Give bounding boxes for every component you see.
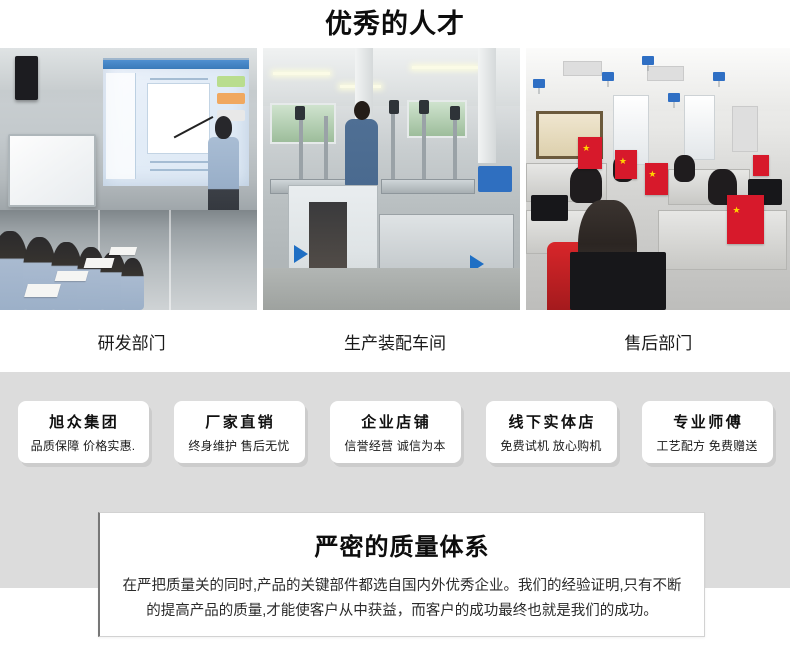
badge-subtitle: 工艺配方 免费赠送: [656, 437, 757, 454]
flag-star-icon: ★: [619, 157, 627, 166]
hanging-sign-icon: [668, 93, 680, 102]
machine-post: [422, 106, 426, 185]
photo-caption: 研发部门: [0, 329, 263, 354]
badge-title: 线下实体店: [506, 411, 596, 432]
badge-card: 旭众集团 品质保障 价格实惠.: [18, 401, 149, 463]
screen-sidebar: [106, 73, 136, 179]
hanging-sign-icon: [642, 56, 654, 65]
photo-caption: 售后部门: [527, 329, 790, 354]
badge-subtitle: 免费试机 放心购机: [500, 437, 601, 454]
office-person: [674, 155, 695, 181]
machine-motor: [450, 106, 460, 120]
badge-card: 企业店铺 信誉经营 诚信为本: [330, 401, 461, 463]
quality-title: 严密的质量体系: [122, 527, 682, 562]
badge-title: 企业店铺: [359, 411, 432, 432]
quality-body-text: 在严把质量关的同时,产品的关键部件都选自国内外优秀企业。我们的经验证明,只有不断…: [122, 574, 682, 624]
brand-swoosh-icon: [294, 245, 308, 263]
screen-document: [147, 83, 210, 154]
photo-caption: 生产装配车间: [263, 329, 526, 354]
machine-motor: [389, 100, 399, 114]
page-title: 优秀的人才: [0, 0, 790, 48]
table-seam: [169, 210, 171, 310]
national-flag-icon: ★: [727, 195, 764, 245]
photo-caption-row: 研发部门 生产装配车间 售后部门: [0, 310, 790, 372]
seated-person: [121, 258, 144, 310]
national-flag-icon: ★: [615, 150, 636, 179]
computer-monitor: [570, 252, 665, 310]
wall-speaker-icon: [15, 56, 38, 101]
notebook: [55, 271, 89, 281]
photo-after-sales-office: ★ ★ ★ ★: [526, 48, 790, 310]
workshop-floor: [263, 268, 520, 310]
national-flag-icon: ★: [578, 137, 602, 168]
photo-production-assembly-workshop: [263, 48, 520, 310]
badge-title: 厂家直销: [203, 411, 276, 432]
flag-star-icon: ★: [582, 144, 590, 153]
badge-card: 厂家直销 终身维护 售后无忧: [174, 401, 305, 463]
machine-frame: [381, 179, 475, 194]
badge-subtitle: 信誉经营 诚信为本: [344, 437, 445, 454]
ceiling-panel: [563, 61, 602, 76]
ceiling-lamp-icon: [273, 72, 329, 75]
photo-rnd-training-room: [0, 48, 257, 310]
national-flag-icon: ★: [645, 163, 669, 194]
cubicle-partition: [658, 210, 787, 270]
badge-row: 旭众集团 品质保障 价格实惠. 厂家直销 终身维护 售后无忧 企业店铺 信誉经营…: [0, 372, 790, 463]
ceiling-panel: [647, 66, 683, 81]
screen-titlebar: [103, 60, 249, 69]
flag-star-icon: ★: [732, 206, 740, 215]
worker-person: [345, 119, 378, 187]
office-window: [684, 95, 715, 160]
photo-strip: ★ ★ ★ ★: [0, 48, 790, 310]
machine-post: [324, 116, 328, 184]
badge-title: 旭众集团: [47, 411, 120, 432]
national-flag-icon: [753, 155, 769, 176]
machine-motor: [295, 106, 305, 120]
flag-star-icon: ★: [648, 170, 656, 179]
machine-motor: [419, 100, 429, 114]
badge-subtitle: 终身维护 售后无忧: [188, 437, 289, 454]
wall-poster: [732, 106, 758, 153]
badge-subtitle: 品质保障 价格实惠.: [31, 437, 136, 454]
notebook: [109, 247, 137, 255]
badge-title: 专业师傅: [671, 411, 744, 432]
machine-post: [299, 111, 303, 184]
screen-line: [150, 78, 209, 80]
office-person: [570, 166, 602, 203]
ceiling-lamp-icon: [412, 66, 479, 69]
computer-monitor: [531, 195, 568, 221]
badge-card: 专业师傅 工艺配方 免费赠送: [642, 401, 773, 463]
hanging-sign-icon: [713, 72, 725, 81]
hanging-sign-icon: [602, 72, 614, 81]
hanging-sign-icon: [533, 79, 545, 88]
quality-system-panel: 严密的质量体系 在严把质量关的同时,产品的关键部件都选自国内外优秀企业。我们的经…: [98, 512, 705, 637]
screen-chip: [217, 76, 245, 87]
machine-post: [453, 111, 457, 184]
structural-pillar: [478, 48, 496, 163]
machine-post: [391, 106, 395, 185]
notebook: [83, 258, 114, 268]
notebook: [24, 284, 61, 297]
badge-card: 线下实体店 免费试机 放心购机: [486, 401, 617, 463]
blue-crate: [478, 166, 511, 192]
whiteboard: [8, 134, 97, 206]
screen-chip: [217, 93, 245, 104]
